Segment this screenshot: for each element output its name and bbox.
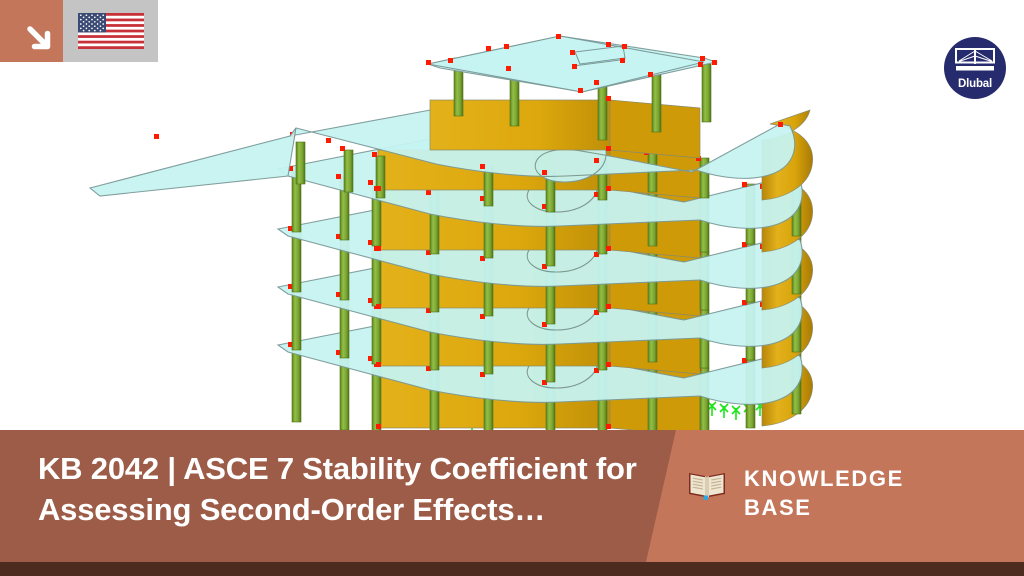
banner-footer-bar — [0, 562, 1024, 576]
language-badge[interactable] — [63, 0, 158, 62]
knowledge-base-thumbnail: Dlubal KB 2042 | ASCE 7 Stability Coeffi… — [0, 0, 1024, 576]
knowledge-base-line-1: KNOWLEDGE — [744, 464, 904, 493]
title-banner: KB 2042 | ASCE 7 Stability Coefficient f… — [0, 430, 1024, 576]
structural-model-viewport — [0, 0, 1024, 440]
dlubal-logo[interactable]: Dlubal — [944, 37, 1006, 99]
open-book-icon — [688, 470, 726, 505]
structural-model-svg — [0, 0, 1024, 440]
roof-storey — [426, 34, 717, 158]
model-geometry — [90, 34, 813, 440]
knowledge-base-tag[interactable]: KNOWLEDGE BASE — [688, 464, 904, 523]
knowledge-base-label: KNOWLEDGE BASE — [744, 464, 904, 523]
page-title: KB 2042 | ASCE 7 Stability Coefficient f… — [38, 448, 663, 530]
knowledge-base-line-2: BASE — [744, 493, 904, 522]
share-button[interactable] — [0, 0, 63, 62]
arrow-down-right-icon — [24, 23, 54, 53]
top-left-badges — [0, 0, 158, 62]
us-flag-icon — [78, 13, 144, 49]
dlubal-wordmark: Dlubal — [958, 79, 992, 91]
dlubal-truss-icon — [955, 48, 995, 77]
